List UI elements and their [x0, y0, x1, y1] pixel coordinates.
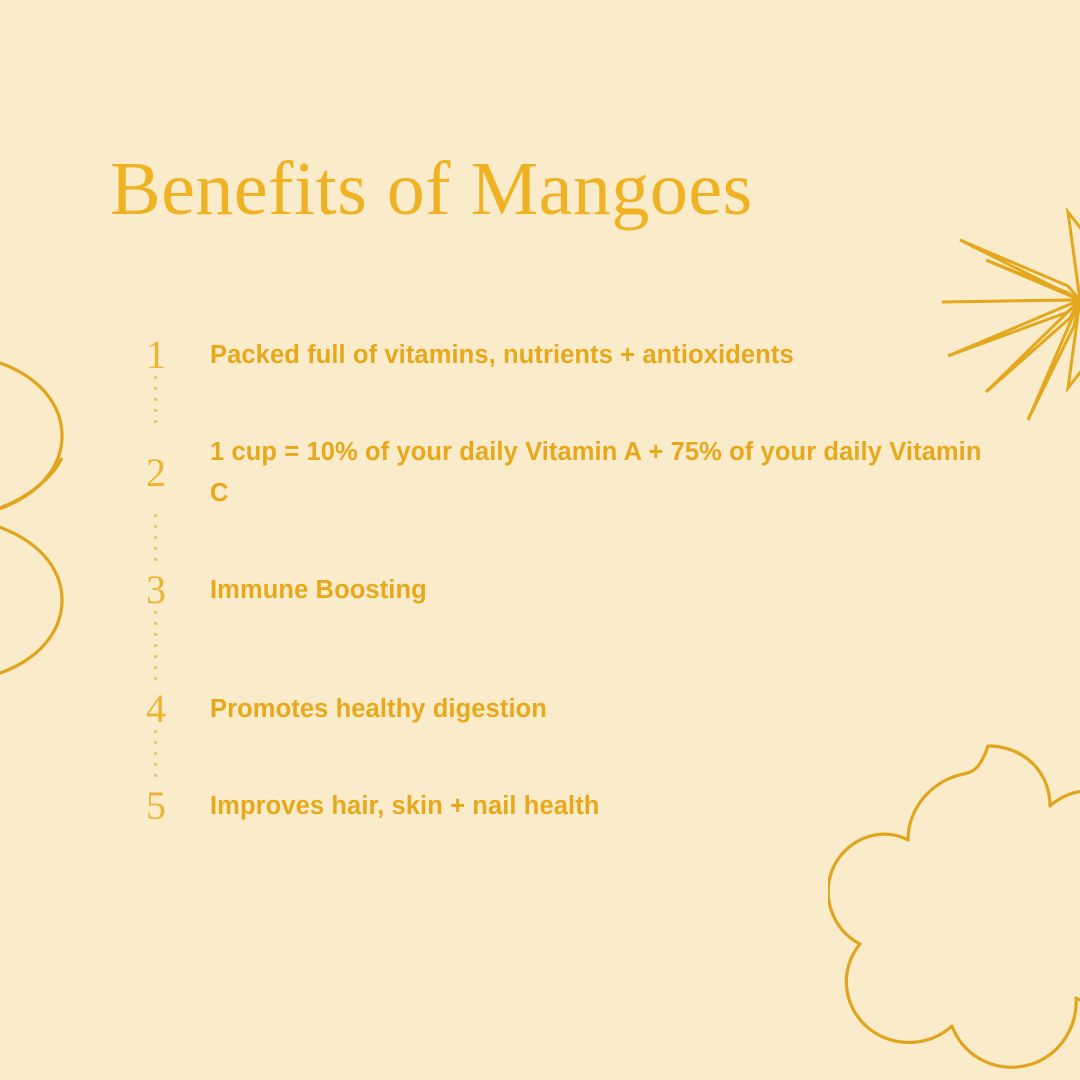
list-item-number: 5 [136, 785, 210, 827]
list-item-label: Improves hair, skin + nail health [210, 785, 996, 827]
list-item: 2 1 cup = 10% of your daily Vitamin A + … [136, 431, 996, 514]
list-item-number: 4 [136, 688, 210, 730]
page-title: Benefits of Mangoes [110, 146, 753, 232]
list-item: 4 Promotes healthy digestion [136, 688, 996, 730]
flower-outline-icon [0, 340, 100, 730]
dotted-connector [136, 376, 210, 431]
dotted-connector [136, 514, 210, 569]
list-item-number: 3 [136, 569, 210, 611]
list-item-label: Immune Boosting [210, 569, 996, 611]
dotted-line [154, 376, 157, 431]
dotted-connector [136, 611, 210, 688]
dotted-line [154, 514, 157, 569]
list-item-label: Packed full of vitamins, nutrients + ant… [210, 334, 996, 376]
list-item: 5 Improves hair, skin + nail health [136, 785, 996, 827]
dotted-connector [136, 730, 210, 785]
benefits-list: 1 Packed full of vitamins, nutrients + a… [136, 334, 996, 827]
dotted-line [154, 611, 157, 688]
list-item-number: 2 [136, 431, 210, 494]
list-item: 3 Immune Boosting [136, 569, 996, 611]
dotted-line [154, 730, 157, 785]
list-item: 1 Packed full of vitamins, nutrients + a… [136, 334, 996, 376]
poster-canvas: Benefits of Mangoes 1 Packed full of vit… [0, 0, 1080, 1080]
list-item-label: Promotes healthy digestion [210, 688, 996, 730]
list-item-label: 1 cup = 10% of your daily Vitamin A + 75… [210, 431, 996, 514]
list-item-number: 1 [136, 334, 210, 376]
